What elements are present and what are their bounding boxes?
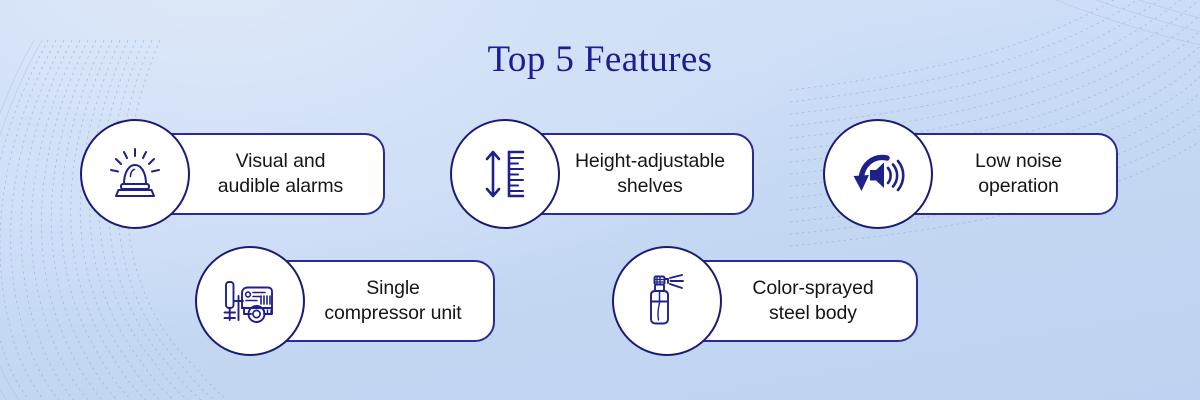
- feature-label: Low noise operation: [975, 149, 1062, 199]
- ruler-vertical-arrow-icon: [450, 119, 560, 229]
- page-title: Top 5 Features: [0, 38, 1200, 81]
- speaker-sound-waves-icon: [823, 119, 933, 229]
- feature-label: Color-sprayed steel body: [752, 276, 873, 326]
- spray-bottle-icon: [612, 246, 722, 356]
- infographic-canvas: Top 5 Features Visual and audible alarms: [0, 0, 1200, 400]
- siren-alarm-beacon-icon: [80, 119, 190, 229]
- air-compressor-machine-icon: [195, 246, 305, 356]
- feature-label: Height-adjustable shelves: [575, 149, 725, 199]
- feature-label: Visual and audible alarms: [218, 149, 343, 199]
- feature-label: Single compressor unit: [324, 276, 461, 326]
- background-wave-mesh-left: [0, 40, 380, 400]
